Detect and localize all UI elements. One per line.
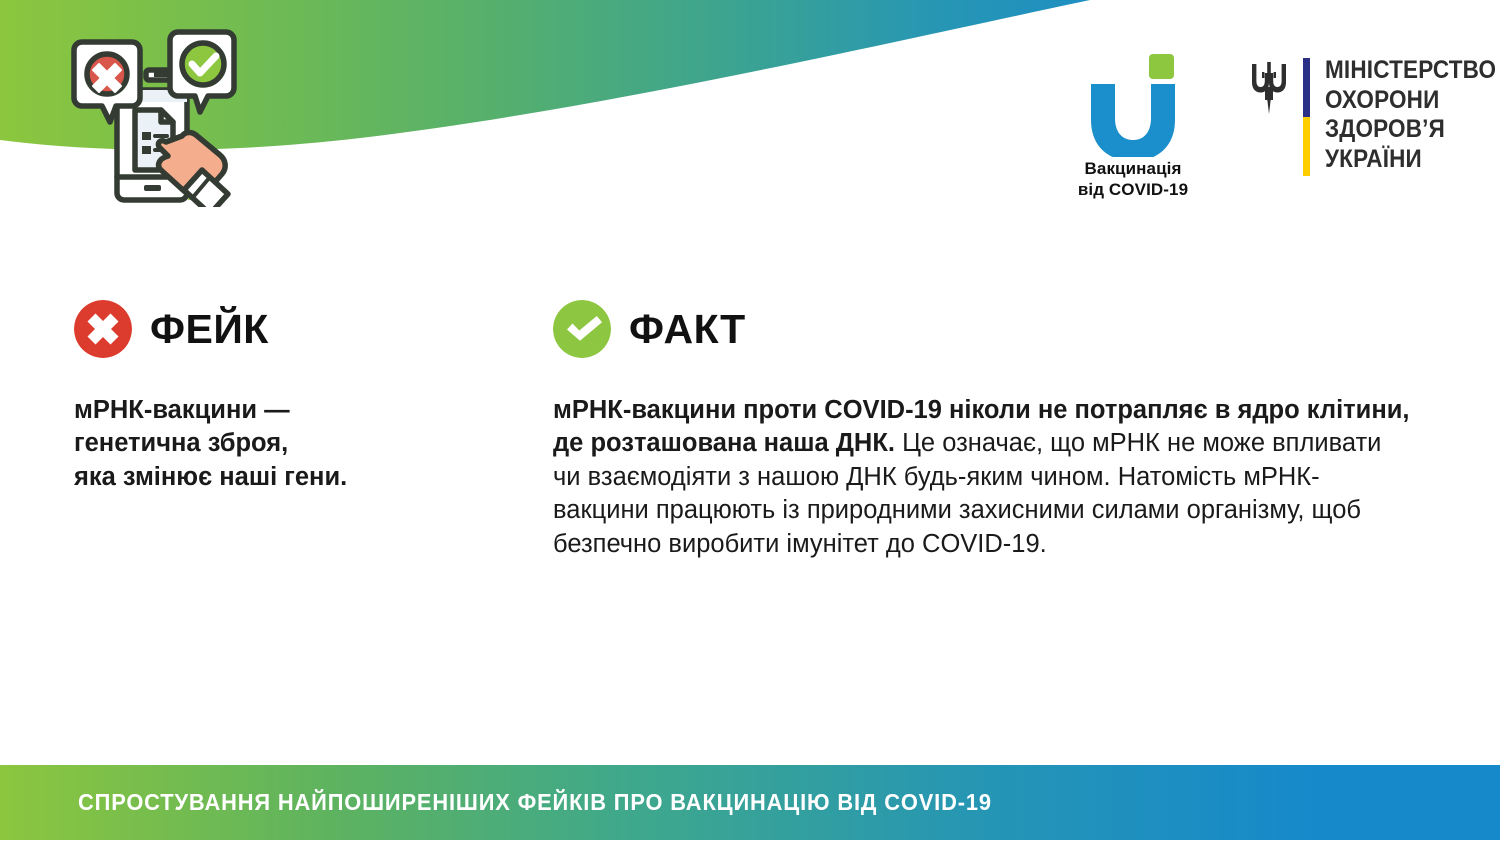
- fake-title: ФЕЙК: [150, 309, 269, 350]
- fake-column: ФЕЙК мРНК-вакцини — генетична зброя, яка…: [74, 300, 504, 494]
- ministry-of-health-text: МІНІСТЕРСТВО ОХОРОНИ ЗДОРОВ’Я УКРАЇНИ: [1325, 56, 1496, 174]
- cross-circle-icon: [74, 300, 132, 358]
- slide-root: Вакцинація від COVID-19 МІНІСТЕРСТВО ОХО…: [0, 0, 1500, 844]
- footer-banner: СПРОСТУВАННЯ НАЙПОШИРЕНІШИХ ФЕЙКІВ ПРО В…: [0, 765, 1500, 840]
- footer-banner-text: СПРОСТУВАННЯ НАЙПОШИРЕНІШИХ ФЕЙКІВ ПРО В…: [78, 789, 992, 816]
- v-check-logo: [1063, 52, 1203, 157]
- fake-body-text: мРНК-вакцини — генетична зброя, яка змін…: [74, 394, 504, 494]
- vaccination-logo-caption: Вакцинація від COVID-19: [1063, 159, 1203, 200]
- ukraine-flag-divider: [1303, 58, 1310, 176]
- fact-body-text: мРНК-вакцини проти COVID-19 ніколи не по…: [553, 394, 1413, 561]
- fact-column: ФАКТ мРНК-вакцини проти COVID-19 ніколи …: [553, 300, 1413, 561]
- fact-title: ФАКТ: [629, 309, 746, 350]
- fake-header: ФЕЙК: [74, 300, 504, 358]
- ukraine-trident-emblem: [1248, 60, 1290, 116]
- check-circle-icon: [553, 300, 611, 358]
- vaccination-logo: Вакцинація від COVID-19: [1063, 52, 1203, 200]
- fake-vs-fact-phone-illustration: [62, 22, 262, 207]
- fact-header: ФАКТ: [553, 300, 1413, 358]
- ministry-of-health-logo: МІНІСТЕРСТВО ОХОРОНИ ЗДОРОВ’Я УКРАЇНИ: [1248, 56, 1500, 176]
